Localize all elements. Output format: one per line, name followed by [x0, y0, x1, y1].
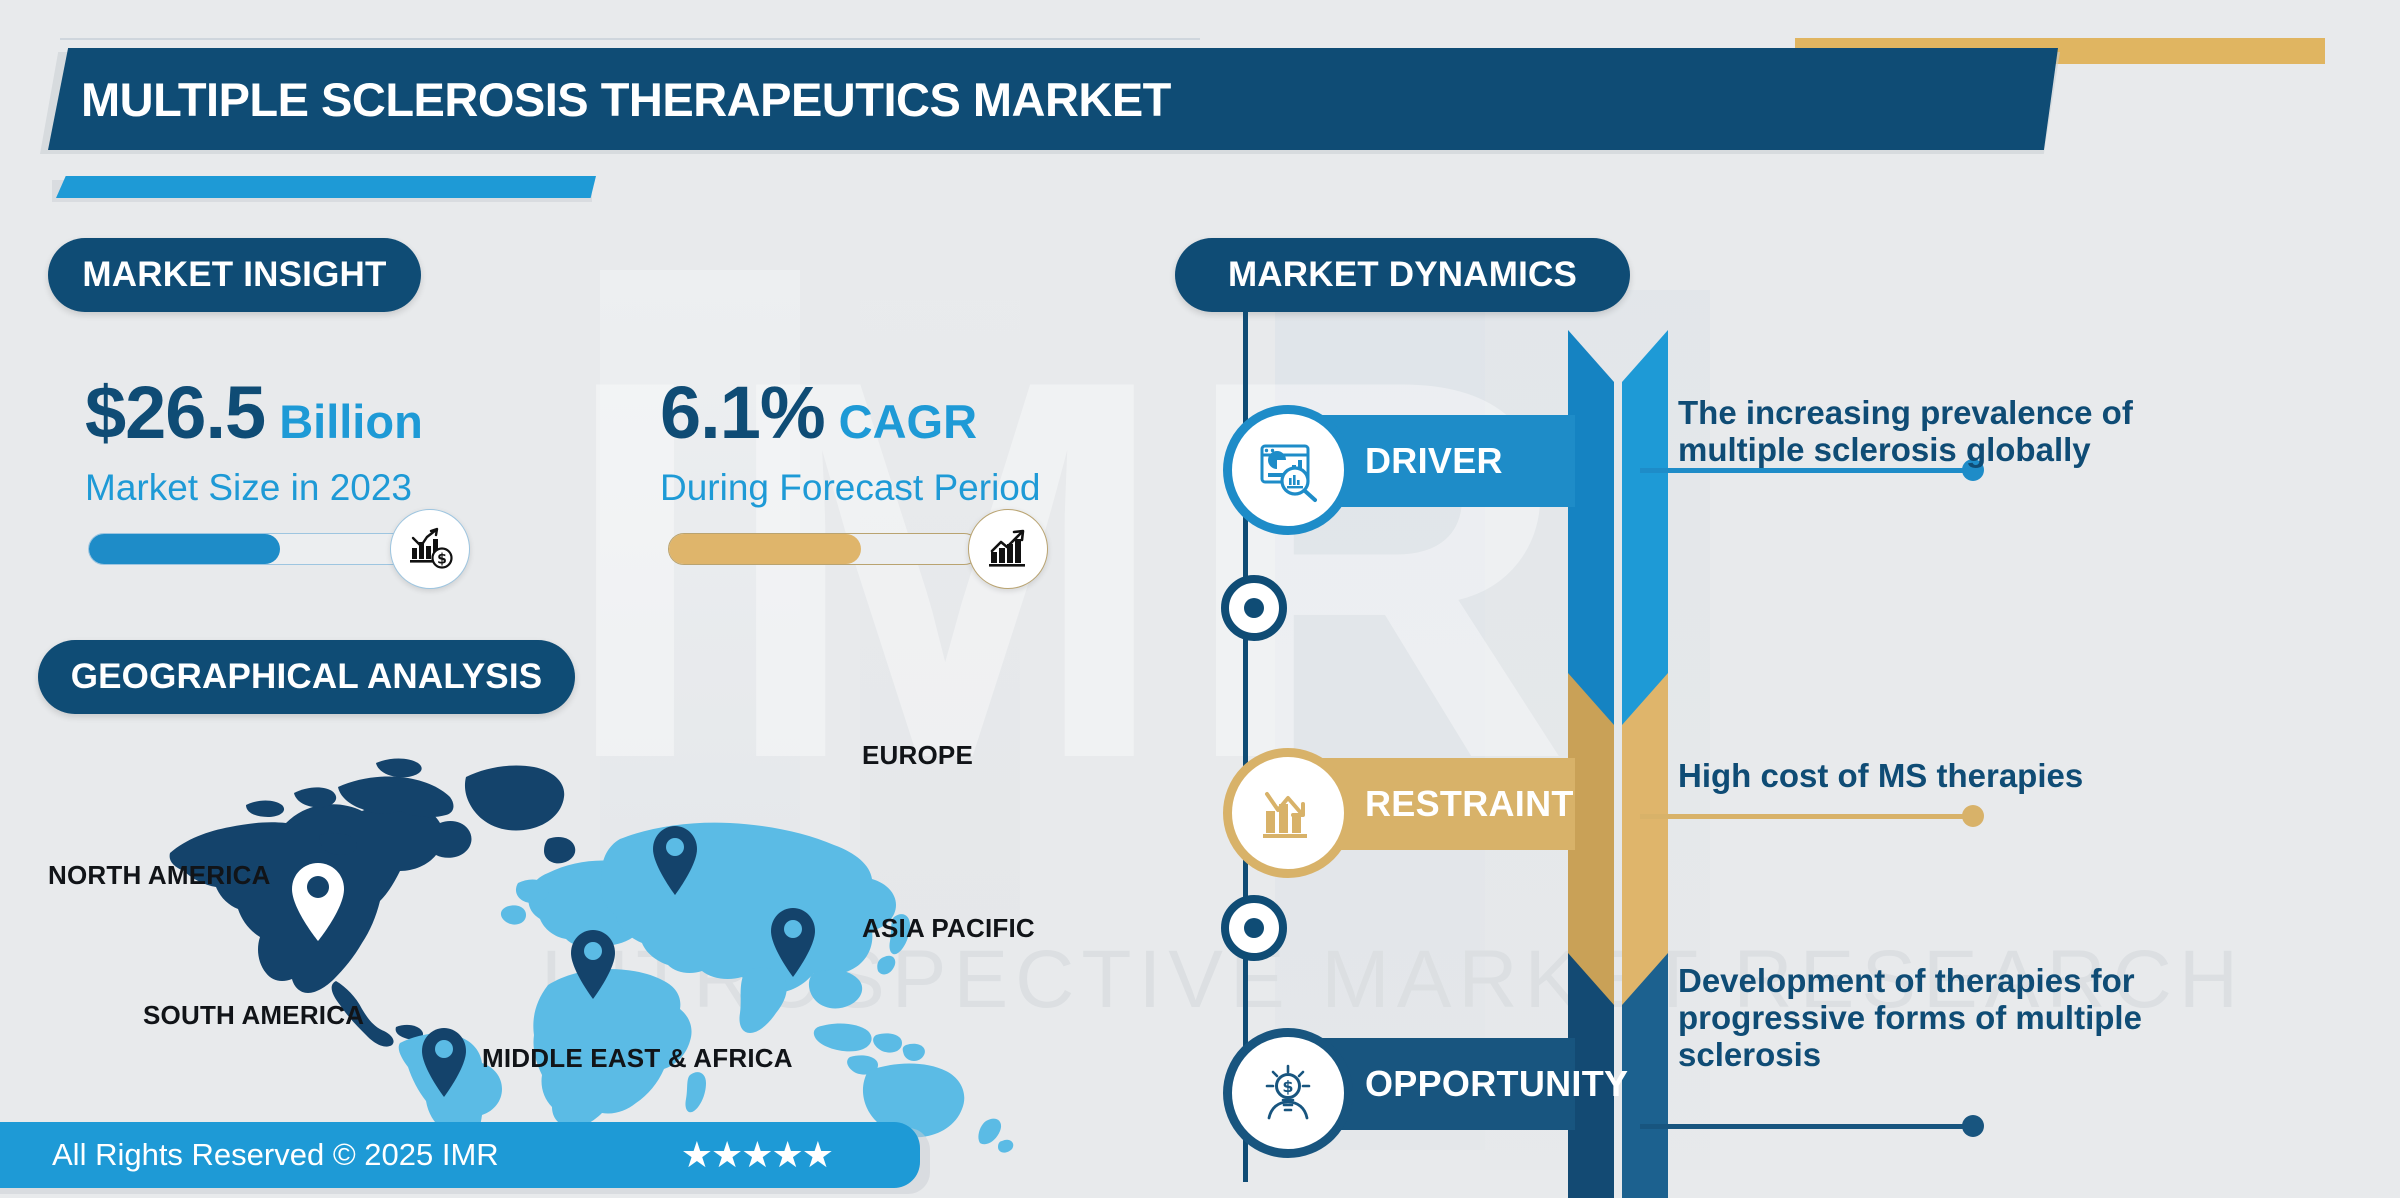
geographical-analysis-pill: GEOGRAPHICAL ANALYSIS [38, 640, 575, 714]
cagr-progress-bar [668, 533, 980, 565]
restraint-leader-dot [1962, 805, 1984, 827]
header-underline-accent [56, 176, 596, 198]
kpi-cagr-value: 6.1% [660, 370, 825, 455]
driver-description: The increasing prevalence of multiple sc… [1678, 395, 2238, 469]
bar-chart-dollar-icon: $ [390, 509, 470, 589]
infographic-canvas: IMR INTROSPECTIVE MARKET RESEARCH MULTIP… [0, 0, 2400, 1198]
driver-label: DRIVER [1365, 440, 1503, 482]
header-hairline [60, 38, 1200, 40]
timeline-node-1-dot [1244, 598, 1264, 618]
restraint-leader-line [1640, 814, 1980, 819]
restraint-label: RESTRAINT [1365, 783, 1574, 825]
market-dynamics-restraint[interactable]: RESTRAINT [1245, 758, 1575, 850]
background-panel-2 [1275, 250, 1485, 1150]
market-size-progress-bar [88, 533, 420, 565]
kpi-market-size-value: $26.5 [85, 370, 265, 455]
market-dynamics-opportunity[interactable]: OPPORTUNITY $ [1245, 1038, 1575, 1130]
timeline-node-1 [1221, 575, 1287, 641]
map-label-asia-pacific: ASIA PACIFIC [862, 913, 1035, 944]
timeline-node-2 [1221, 895, 1287, 961]
lightbulb-dollar-icon: $ [1223, 1028, 1353, 1158]
kpi-cagr-unit: CAGR [839, 394, 977, 449]
map-label-north-america: NORTH AMERICA [48, 860, 271, 891]
footer-copyright: All Rights Reserved © 2025 IMR [52, 1137, 499, 1173]
opportunity-label: OPPORTUNITY [1365, 1063, 1628, 1105]
timeline-node-2-dot [1244, 918, 1264, 938]
svg-text:$: $ [437, 552, 447, 568]
market-dynamics-pill: MARKET DYNAMICS [1175, 238, 1630, 312]
world-map [150, 735, 1030, 1155]
growth-arrow-chart-icon [968, 509, 1048, 589]
declining-bar-chart-icon [1223, 748, 1353, 878]
restraint-description: High cost of MS therapies [1678, 758, 2238, 795]
footer-bar: All Rights Reserved © 2025 IMR ★★★★★ [0, 1122, 920, 1188]
map-label-south-america: SOUTH AMERICA [143, 1000, 364, 1031]
page-title: MULTIPLE SCLEROSIS THERAPEUTICS MARKET [81, 72, 1171, 127]
market-insight-pill: MARKET INSIGHT [48, 238, 421, 312]
dashboard-magnifier-icon [1223, 405, 1353, 535]
map-region-eurasia-africa [501, 823, 1013, 1153]
map-label-middle-east-africa: MIDDLE EAST & AFRICA [482, 1043, 793, 1074]
map-label-europe: EUROPE [862, 740, 973, 771]
opportunity-description: Development of therapies for progressive… [1678, 963, 2238, 1074]
rating-stars-icon: ★★★★★ [681, 1134, 832, 1176]
market-size-progress-fill [89, 534, 280, 564]
svg-text:$: $ [1282, 1077, 1293, 1096]
opportunity-leader-line [1640, 1124, 1980, 1129]
opportunity-leader-dot [1962, 1115, 1984, 1137]
market-dynamics-driver[interactable]: DRIVER [1245, 415, 1575, 507]
kpi-cagr-caption: During Forecast Period [660, 467, 1040, 509]
kpi-market-size-unit: Billion [279, 394, 423, 449]
kpi-cagr: 6.1% CAGR During Forecast Period [660, 370, 1040, 509]
kpi-market-size-caption: Market Size in 2023 [85, 467, 423, 509]
header-bar: MULTIPLE SCLEROSIS THERAPEUTICS MARKET [48, 48, 2058, 150]
kpi-market-size: $26.5 Billion Market Size in 2023 [85, 370, 423, 509]
cagr-progress-fill [669, 534, 861, 564]
